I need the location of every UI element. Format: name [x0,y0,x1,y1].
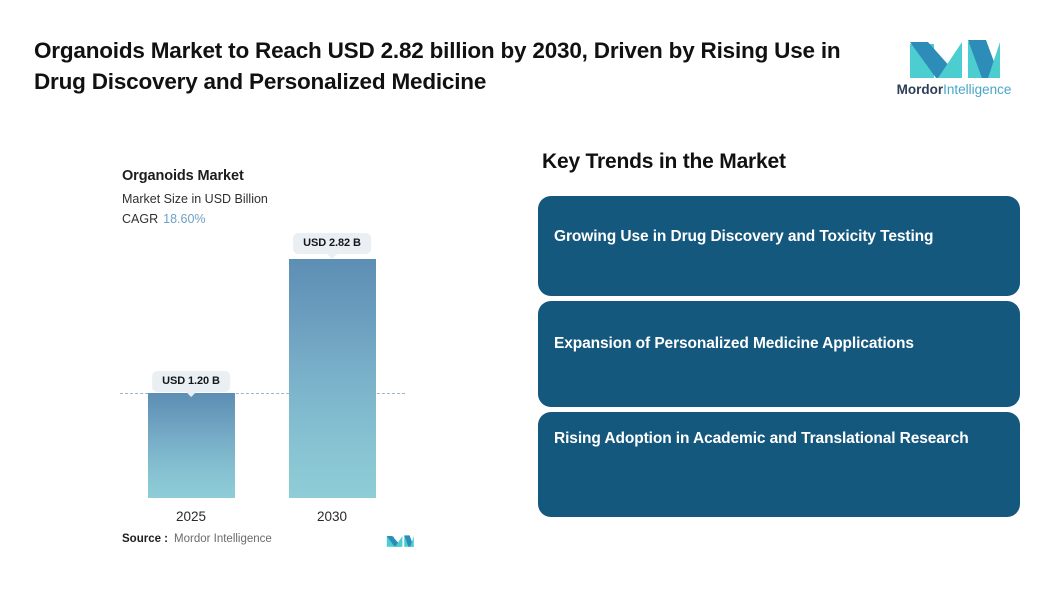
bar-2030[interactable] [289,259,376,498]
bar-chart-plot: USD 1.20 B USD 2.82 B 2025 2030 [0,150,480,570]
page-title: Organoids Market to Reach USD 2.82 billi… [34,36,864,97]
key-trends-panel: Key Trends in the Market Growing Use in … [538,150,1020,522]
brand-logo: MordorIntelligence [884,26,1024,110]
mordor-m-mark-icon-small [385,531,415,547]
bar-value-label-2030: USD 2.82 B [293,233,371,254]
source-row: Source : Mordor Intelligence [122,531,415,547]
chart-panel: Organoids Market Market Size in USD Bill… [0,150,480,570]
key-trends-heading: Key Trends in the Market [542,150,1020,174]
x-axis-tick-2030: 2030 [317,509,347,524]
bar-value-label-2025: USD 1.20 B [152,371,230,392]
source-value: Mordor Intelligence [174,533,272,545]
trend-card[interactable]: Rising Adoption in Academic and Translat… [538,412,1020,517]
trend-card[interactable]: Growing Use in Drug Discovery and Toxici… [538,196,1020,296]
brand-wordmark: MordorIntelligence [884,82,1024,98]
source-label: Source : [122,533,168,545]
brand-word-mordor: Mordor [897,82,944,97]
trend-card[interactable]: Expansion of Personalized Medicine Appli… [538,301,1020,407]
brand-word-intelligence: Intelligence [943,82,1011,97]
mordor-m-mark-icon [904,26,1004,78]
bar-2025[interactable] [148,393,235,498]
x-axis-tick-2025: 2025 [176,509,206,524]
